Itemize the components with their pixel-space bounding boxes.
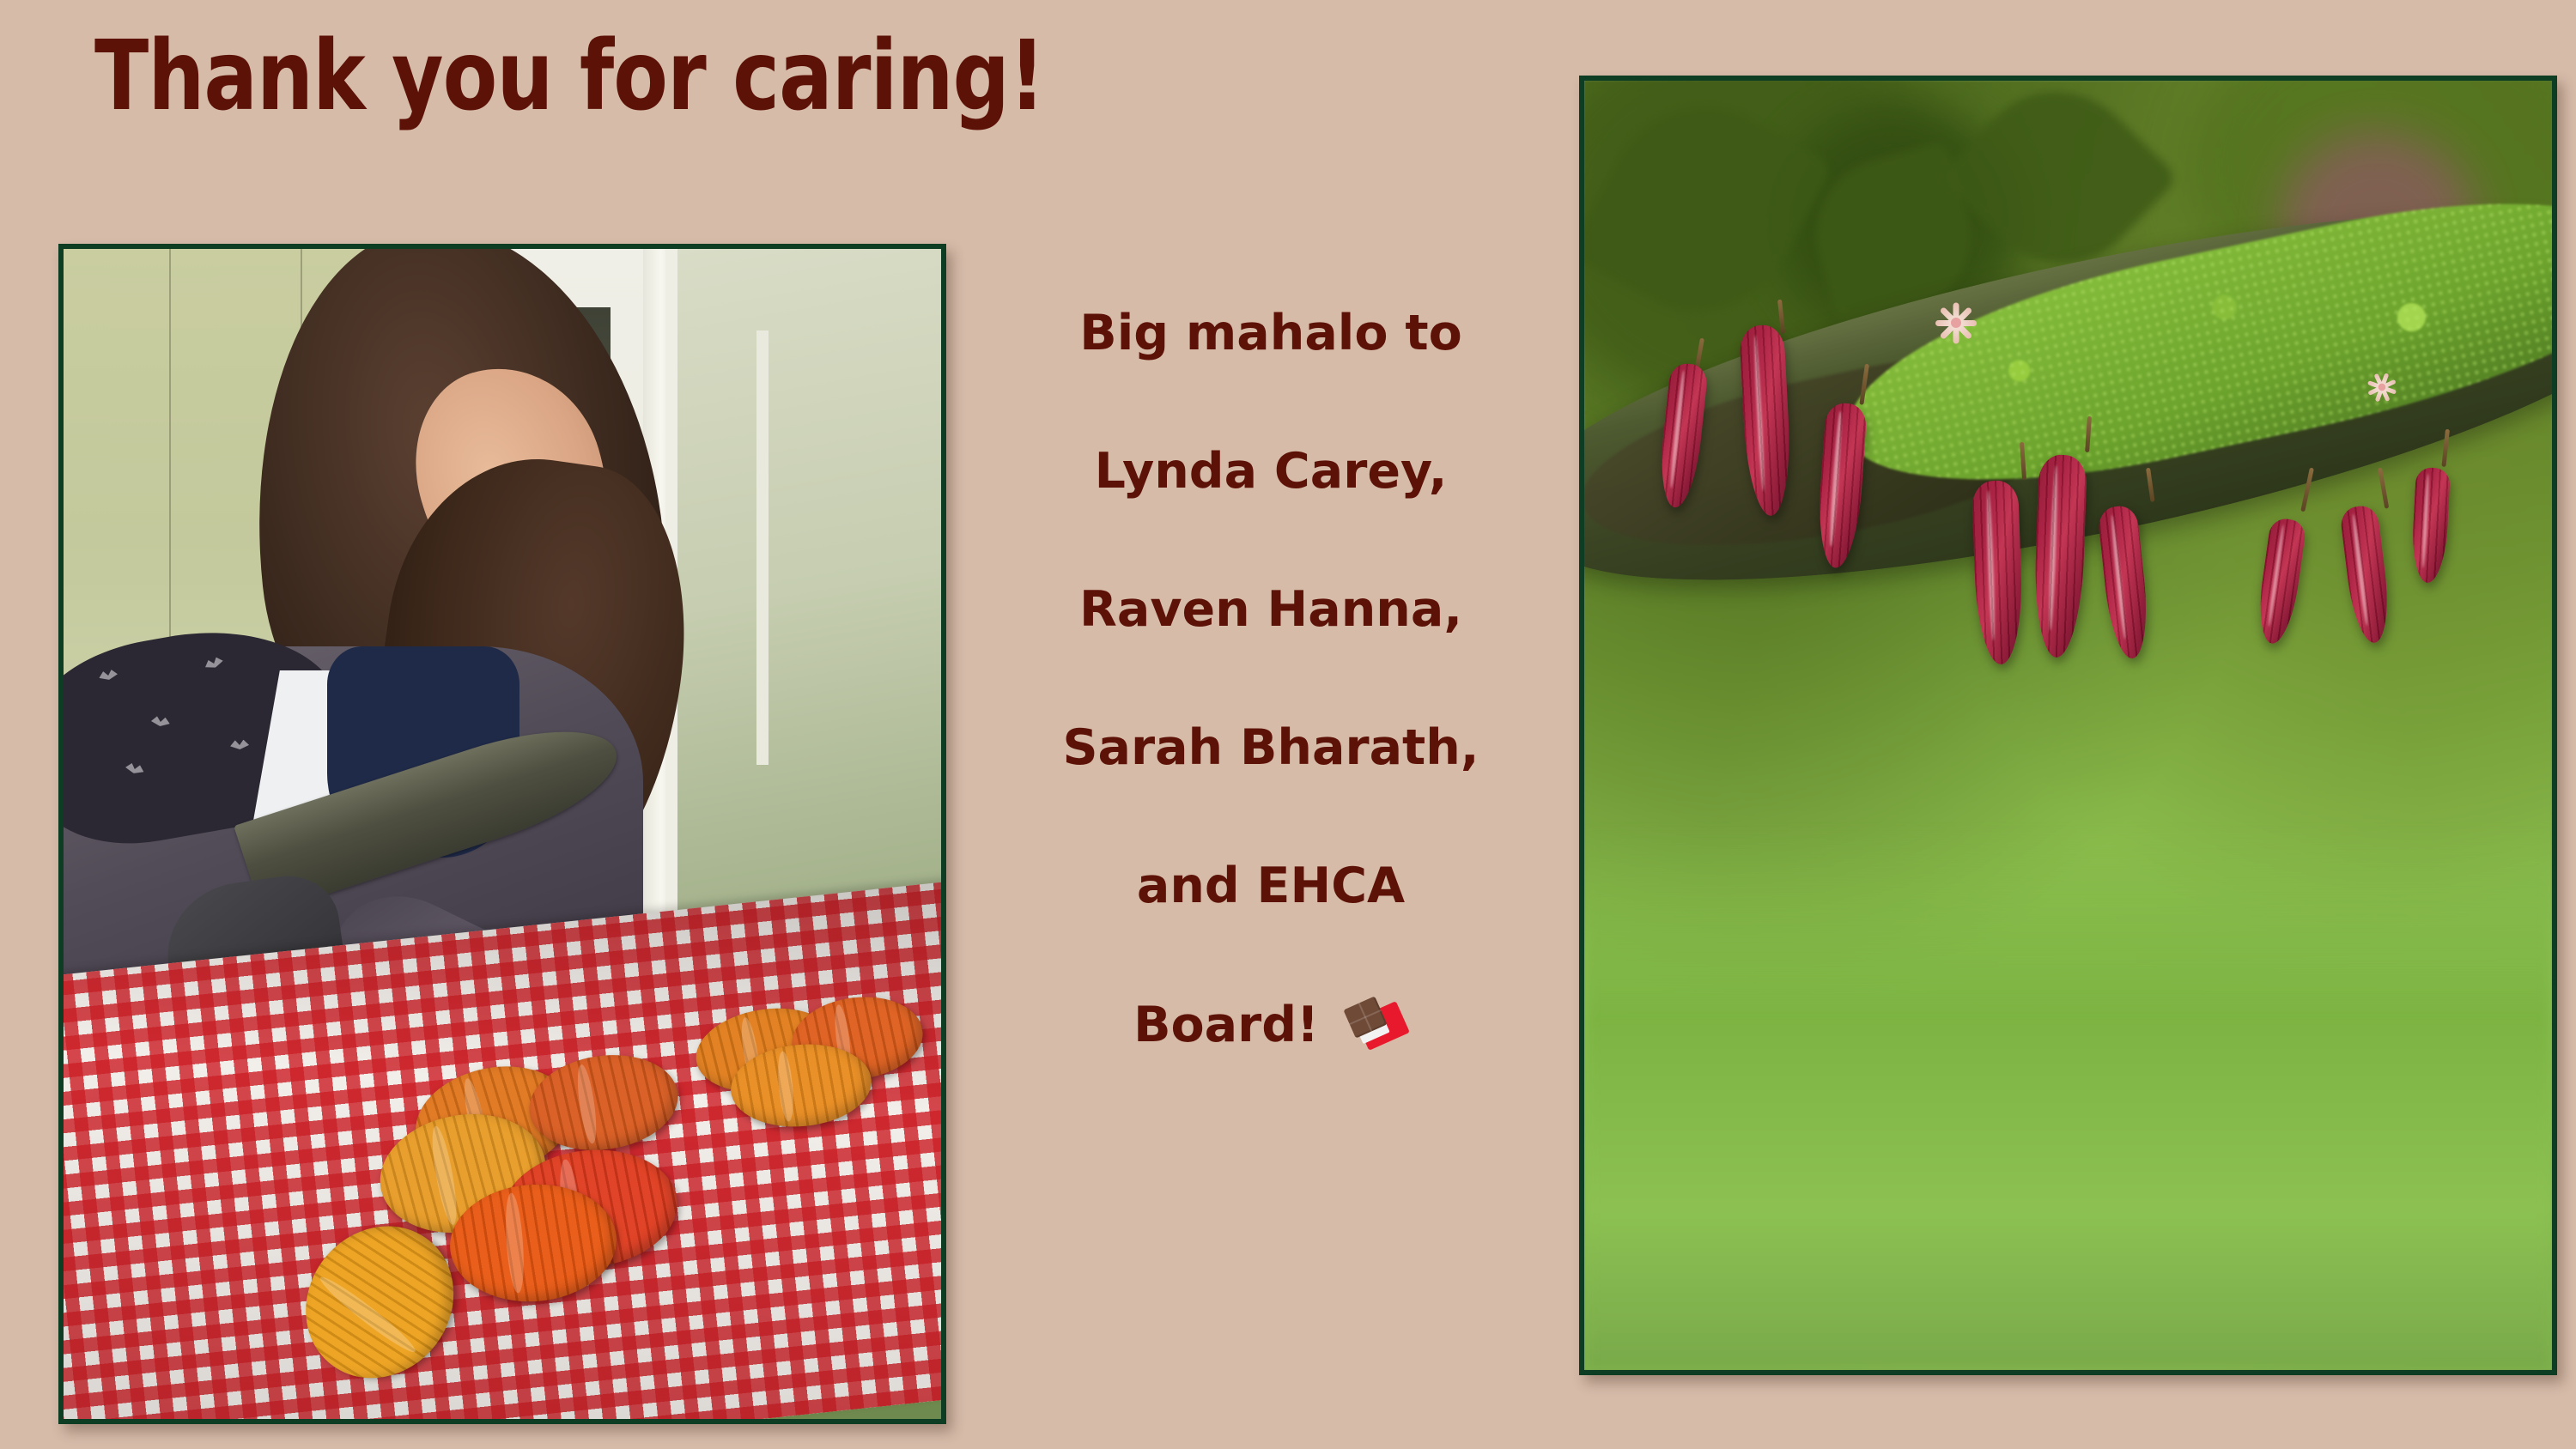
photo-left-content xyxy=(64,249,941,1419)
message-line-6: Board! xyxy=(987,1000,1554,1053)
message-line-3: Raven Hanna, xyxy=(987,585,1554,634)
page-title: Thank you for caring! xyxy=(94,24,1044,130)
message-line-2: Lynda Carey, xyxy=(987,447,1554,496)
photo-right-content xyxy=(1584,81,2552,1370)
blurred-lawn xyxy=(1584,828,2552,1370)
thank-you-message: Big mahalo to Lynda Carey, Raven Hanna, … xyxy=(987,309,1554,1053)
chocolate-bar-emoji xyxy=(1348,1000,1408,1053)
cacao-flower xyxy=(1933,300,1979,346)
window-pane xyxy=(665,249,941,928)
slide-canvas: Thank you for caring! xyxy=(0,0,2576,1449)
message-line-1: Big mahalo to xyxy=(987,309,1554,358)
message-line-4: Sarah Bharath, xyxy=(987,724,1554,773)
message-line-5: and EHCA xyxy=(987,862,1554,911)
message-line-6-text: Board! xyxy=(1133,997,1319,1053)
cacao-flower xyxy=(2365,371,2398,404)
photo-left-cacao-harvest xyxy=(58,244,946,1424)
photo-right-cacao-tree xyxy=(1579,76,2557,1375)
